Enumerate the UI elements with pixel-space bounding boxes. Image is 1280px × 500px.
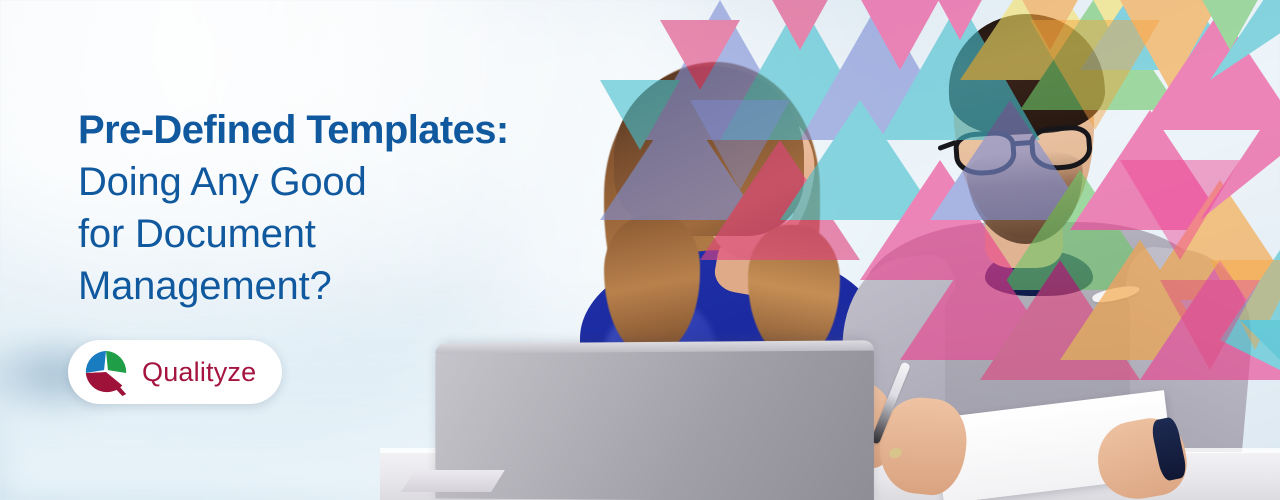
eyeglasses-right-lens xyxy=(1028,124,1093,172)
headline-line-3: for Document xyxy=(78,208,509,260)
laptop-icon xyxy=(435,340,874,500)
laptop-lid-top-edge xyxy=(435,340,874,353)
blog-hero-banner: Pre-Defined Templates: Doing Any Good fo… xyxy=(0,0,1280,500)
eyeglasses-left-lens xyxy=(953,129,1018,177)
laptop-base xyxy=(401,470,505,492)
qualityze-circle-logo-icon xyxy=(82,348,130,396)
qualityze-logo[interactable]: Qualityze xyxy=(68,340,282,404)
page-title: Pre-Defined Templates: Doing Any Good fo… xyxy=(78,104,509,312)
qualityze-wordmark: Qualityze xyxy=(142,359,256,386)
headline-line-1: Pre-Defined Templates: xyxy=(78,104,509,156)
woman-hair-front xyxy=(614,66,804,236)
headline-line-2: Doing Any Good xyxy=(78,156,509,208)
headline-line-4: Management? xyxy=(78,260,509,312)
man-hair xyxy=(945,10,1107,138)
